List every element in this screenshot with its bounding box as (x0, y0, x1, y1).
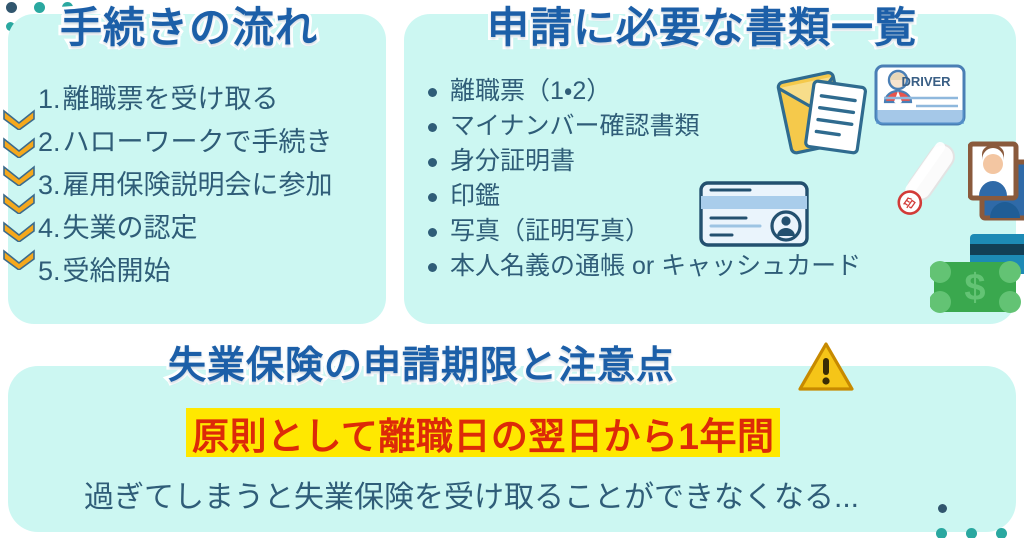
flow-step-number: 5. (38, 256, 61, 286)
money-symbol: $ (964, 267, 985, 309)
notice-panel-heading: 失業保険の申請期限と注意点 (168, 334, 675, 389)
flow-step-number: 1. (38, 84, 61, 114)
flow-step-label: 雇用保険説明会に参加 (63, 170, 333, 200)
chevron-down-icon (2, 248, 36, 270)
document-item: 本人名義の通帳 or キャッシュカード (424, 249, 861, 284)
hanko-stamp-icon: 印 (896, 138, 958, 218)
flow-step-number: 3. (38, 170, 61, 200)
id-photo-icon (968, 138, 1024, 230)
chevron-down-icon (2, 164, 36, 186)
flow-step-number: 4. (38, 213, 61, 243)
notice-sub-text: 過ぎてしまうと失業保険を受け取ることができなくなる... (84, 472, 859, 516)
documents-panel-heading: 申請に必要な書類一覧 (487, 0, 917, 55)
warning-triangle-icon (798, 341, 854, 393)
envelope-documents-icon (770, 58, 880, 163)
chevron-down-icon (2, 220, 36, 242)
driver-license-icon: DRIVER (872, 58, 968, 130)
decorative-dot (936, 528, 947, 538)
chevron-down-icon (2, 192, 36, 214)
flow-step-label: 離職票を受け取る (63, 84, 279, 114)
flow-step-item: 4.失業の認定 (38, 207, 378, 250)
flow-panel-heading: 手続きの流れ (60, 0, 318, 55)
infographic-canvas: 手続きの流れ 1.離職票を受け取る 2.ハローワークで手続き 3.雇用保険説明会… (0, 0, 1024, 538)
decorative-dot (996, 528, 1007, 538)
decorative-dot (966, 528, 977, 538)
chevron-down-icon (2, 136, 36, 158)
flow-step-item: 3.雇用保険説明会に参加 (38, 164, 378, 207)
driver-license-label: DRIVER (901, 74, 951, 89)
notice-highlight-text: 原則として離職日の翌日から1年間 (186, 406, 780, 460)
flow-step-label: 失業の認定 (63, 213, 198, 243)
decorative-dot (34, 2, 45, 13)
chevron-down-icon (2, 108, 36, 130)
cash-credit-card-icon: $ (930, 230, 1024, 322)
flow-step-number: 2. (38, 127, 61, 157)
bank-passbook-card-icon (698, 180, 810, 250)
flow-step-item: 1.離職票を受け取る (38, 78, 378, 121)
flow-step-list: 1.離職票を受け取る 2.ハローワークで手続き 3.雇用保険説明会に参加 4.失… (38, 78, 378, 293)
decorative-dot (938, 504, 947, 513)
decorative-dot (6, 2, 17, 13)
flow-step-label: ハローワークで手続き (63, 127, 333, 157)
flow-step-label: 受給開始 (63, 256, 171, 286)
flow-step-item: 2.ハローワークで手続き (38, 121, 378, 164)
flow-step-item: 5.受給開始 (38, 250, 378, 293)
